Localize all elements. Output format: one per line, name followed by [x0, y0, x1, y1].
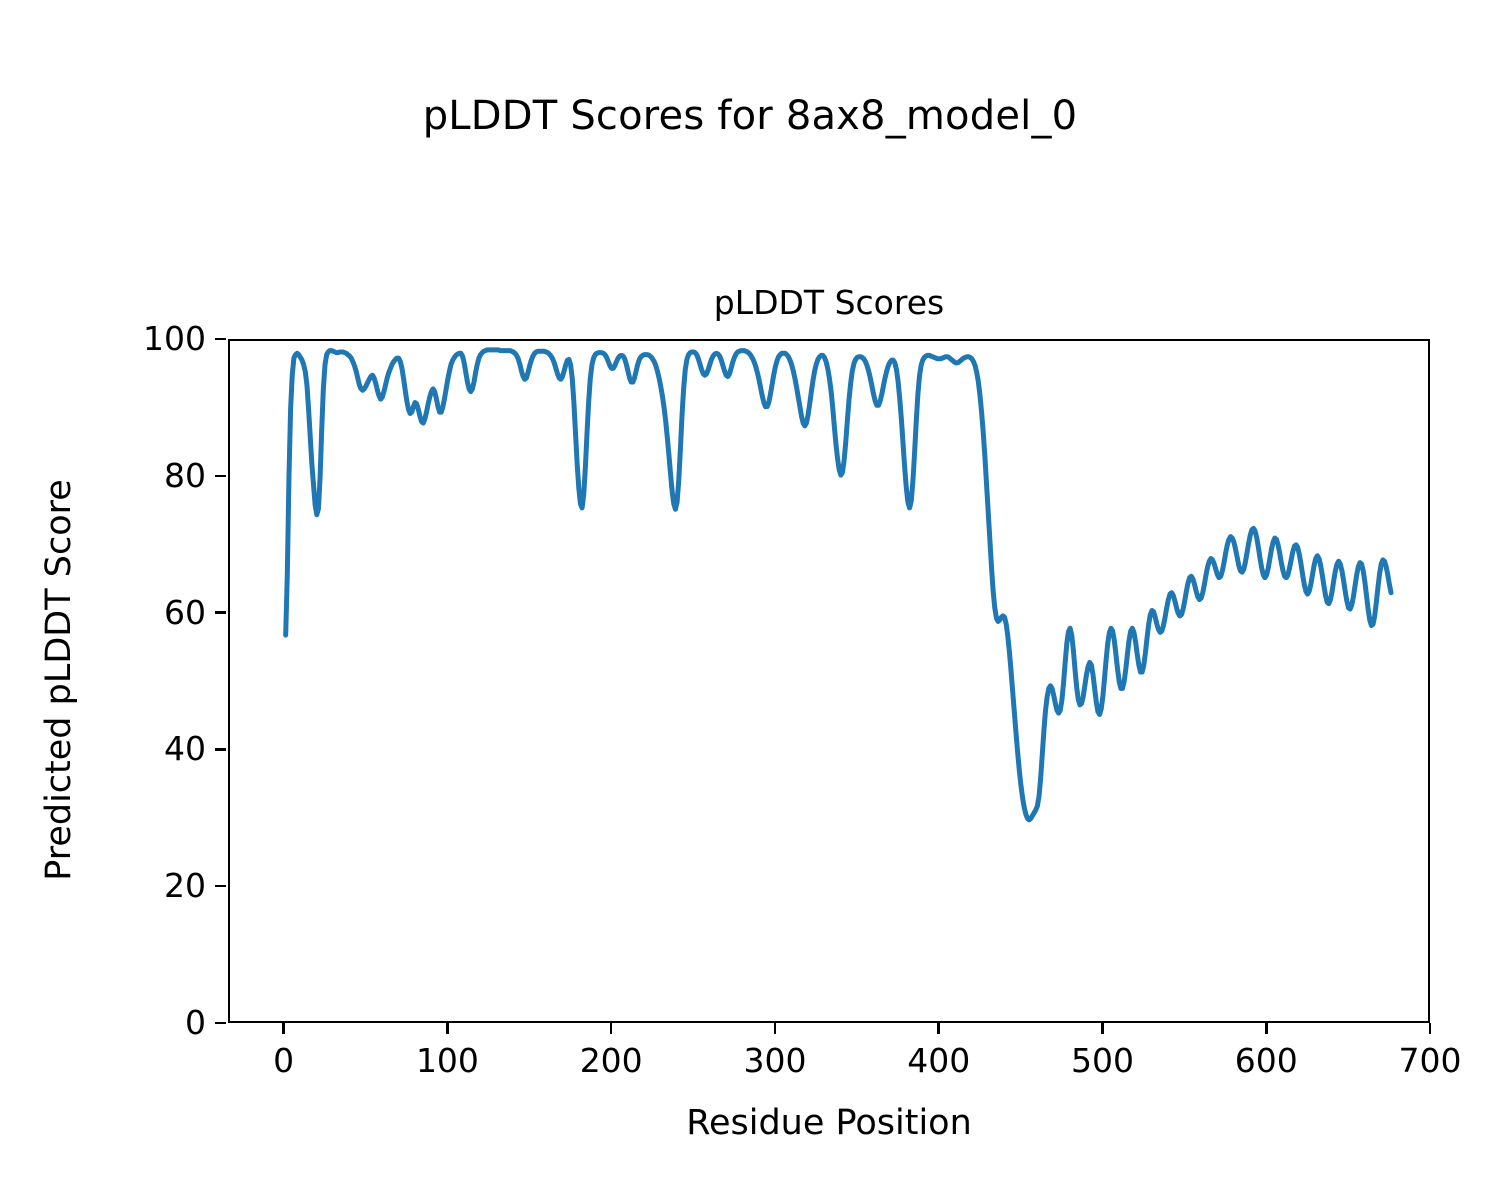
y-tick-label: 20: [164, 869, 206, 902]
y-axis-label: Predicted pLDDT Score: [38, 338, 80, 1022]
x-tick-label: 200: [551, 1042, 671, 1080]
x-tick-mark: [1265, 1023, 1268, 1034]
x-axis-label: Residue Position: [228, 1102, 1430, 1144]
x-tick-label: 100: [387, 1042, 507, 1080]
x-tick-mark: [774, 1023, 777, 1034]
pldtt-line-series: [286, 350, 1391, 820]
plot-svg: [230, 341, 1432, 1025]
y-tick-label: 40: [164, 732, 206, 765]
figure-canvas: pLDDT Scores for 8ax8_model_0 pLDDT Scor…: [0, 0, 1500, 1200]
y-tick-mark: [215, 611, 226, 614]
y-tick-label: 100: [143, 322, 206, 355]
y-tick-label: 60: [164, 596, 206, 629]
x-tick-mark: [937, 1023, 940, 1034]
x-tick-label: 400: [879, 1042, 999, 1080]
y-tick-label: 80: [164, 459, 206, 492]
x-tick-label: 500: [1042, 1042, 1162, 1080]
y-axis-label-container: Predicted pLDDT Score: [0, 339, 60, 1023]
x-tick-mark: [610, 1023, 613, 1034]
x-tick-mark: [1101, 1023, 1104, 1034]
y-tick-mark: [215, 748, 226, 751]
y-tick-mark: [215, 338, 226, 341]
figure-suptitle: pLDDT Scores for 8ax8_model_0: [0, 92, 1500, 140]
x-tick-label: 700: [1370, 1042, 1490, 1080]
y-tick-mark: [215, 475, 226, 478]
x-tick-label: 0: [224, 1042, 344, 1080]
x-tick-mark: [1429, 1023, 1432, 1034]
axes-title: pLDDT Scores: [228, 283, 1430, 323]
y-tick-mark: [215, 1022, 226, 1025]
x-tick-label: 300: [715, 1042, 835, 1080]
x-tick-label: 600: [1206, 1042, 1326, 1080]
x-tick-mark: [446, 1023, 449, 1034]
y-tick-label: 0: [185, 1006, 206, 1039]
y-tick-mark: [215, 885, 226, 888]
plot-area: [228, 339, 1430, 1023]
x-tick-mark: [282, 1023, 285, 1034]
